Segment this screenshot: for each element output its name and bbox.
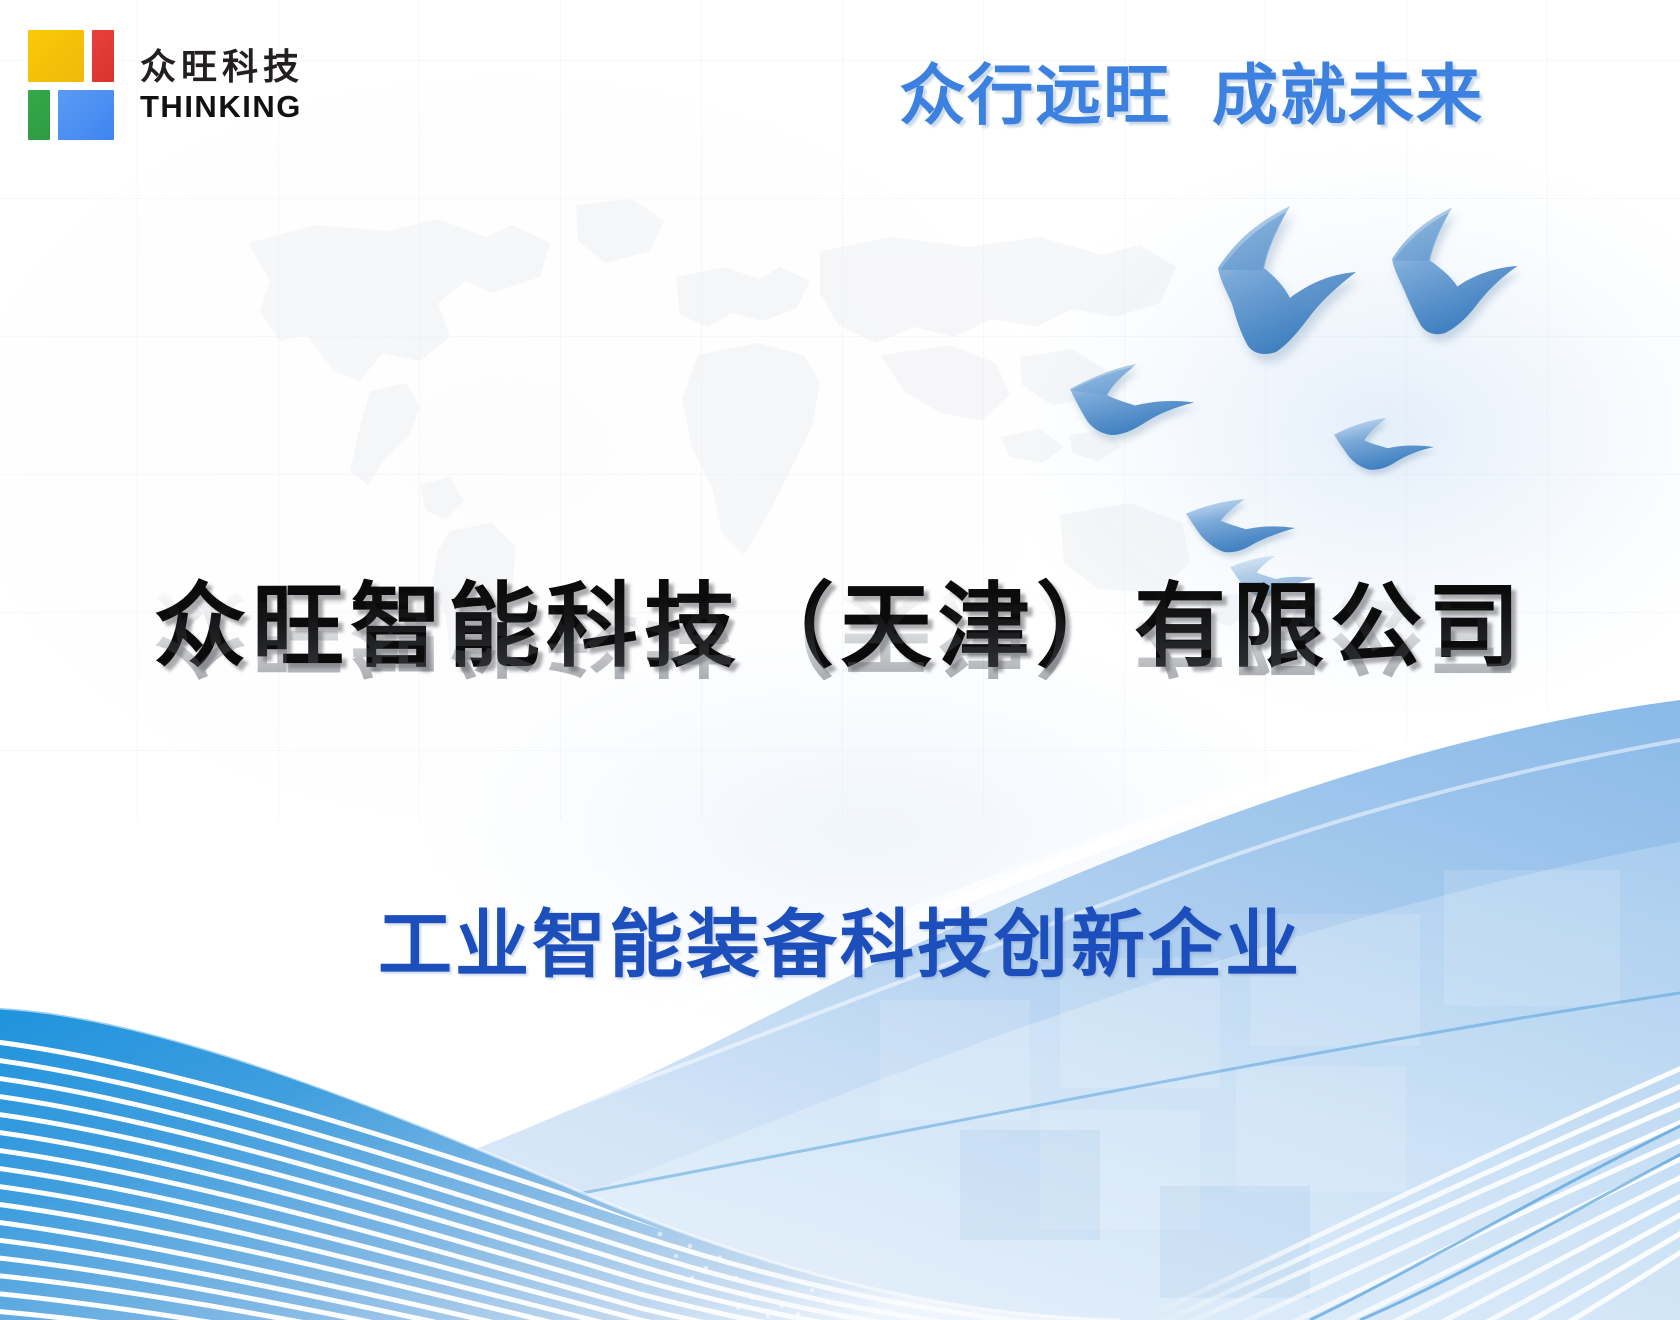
seagull-icon [1070,364,1194,435]
company-logo[interactable]: 众旺科技 THINKING [28,30,304,140]
company-title: 众旺智能科技（天津）有限公司 [0,575,1680,678]
logo-bar-green [28,90,50,140]
seagull-icon [1218,206,1356,354]
title-block: 众旺智能科技（天津）有限公司 众旺智能科技（天津）有限公司 [0,575,1680,678]
header-tagline: 众行远旺 成就未来 [899,62,1484,128]
presentation-slide: 众旺科技 THINKING 众行远旺 成就未来 众旺智能科技（天津）有限公司 众… [0,0,1680,1320]
logo-wordmark: 众旺科技 THINKING [140,49,304,122]
seagull-icon [1186,499,1295,552]
logo-mark-icon [28,30,114,140]
logo-name-en: THINKING [140,91,304,122]
logo-name-cn: 众旺科技 [140,49,304,85]
seagull-icon [1334,418,1434,470]
seagull-icon [1392,207,1518,334]
logo-square-blue [58,90,114,140]
logo-square-yellow [28,30,84,82]
logo-bar-red [92,30,114,82]
company-subtitle: 工业智能装备科技创新企业 [0,908,1680,982]
bottom-right-stripe-fan [1160,1020,1680,1320]
